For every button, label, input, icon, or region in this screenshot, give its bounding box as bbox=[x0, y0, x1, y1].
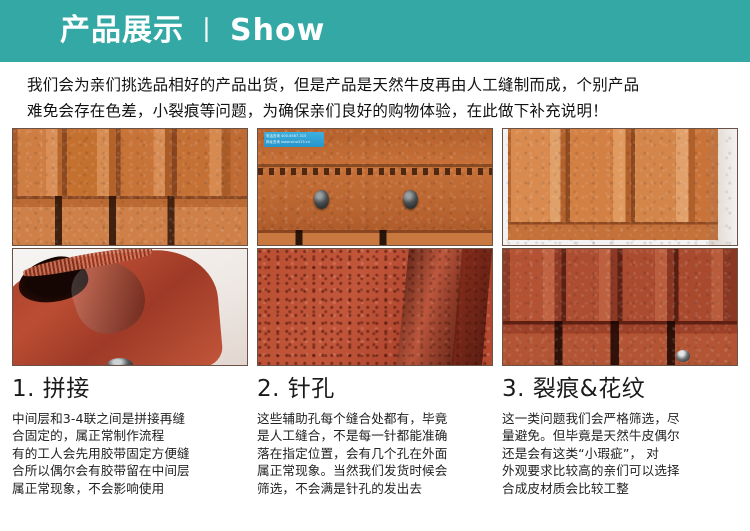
photo-splice-tan-loops[interactable] bbox=[12, 128, 248, 246]
title-separator: 丨 bbox=[193, 18, 221, 45]
body-line: 合成皮材质会比较工整 bbox=[502, 480, 738, 497]
stitch-line bbox=[258, 168, 492, 175]
product-photo-grid: 电话查询 400-6467-315 网址查询 www.sino315.cn bbox=[12, 128, 738, 368]
photo-stitching-rivets[interactable]: 电话查询 400-6467-315 网址查询 www.sino315.cn bbox=[257, 128, 493, 246]
body-line: 是人工缝合，不是每一针都能准确 bbox=[257, 427, 493, 444]
column-body-splice: 中间层和3-4联之间是拼接再缝 合固定的，属正常制作流程 有的工人会先用胶带固定… bbox=[12, 410, 248, 497]
body-line: 量避免。但毕竟是天然牛皮偶尔 bbox=[502, 427, 738, 444]
body-line: 还是会有这类“小瑕疵”， 对 bbox=[502, 445, 738, 462]
body-line: 属正常现象，不会影响使用 bbox=[12, 480, 248, 497]
intro-paragraph: 我们会为亲们挑选品相好的产品出货，但是产品是天然牛皮再由人工缝制而成，个别产品 … bbox=[27, 72, 727, 124]
body-line: 合所以偶尔会有胶带留在中间层 bbox=[12, 462, 248, 479]
column-heading-pinhole: 2. 针孔 bbox=[257, 374, 493, 404]
photo-tan-panels-front[interactable] bbox=[502, 128, 738, 246]
page-title: 产品展示 丨 Show bbox=[60, 16, 325, 46]
body-line: 这一类问题我们会严格筛选，尽 bbox=[502, 410, 738, 427]
explanation-column-pinhole: 2. 针孔 这些辅助孔每个缝合处都有，毕竟 是人工缝合，不是每一针都能准确 落在… bbox=[257, 374, 493, 497]
leather-lower-band bbox=[258, 230, 492, 245]
page-banner: 产品展示 丨 Show bbox=[0, 0, 750, 62]
intro-line-1: 我们会为亲们挑选品相好的产品出货，但是产品是天然牛皮再由人工缝制而成，个别产品 bbox=[27, 72, 727, 98]
photo-dark-red-ribs[interactable] bbox=[502, 248, 738, 366]
column-body-pinhole: 这些辅助孔每个缝合处都有，毕竟 是人工缝合，不是每一针都能准确 落在指定位置，会… bbox=[257, 410, 493, 497]
body-line: 外观要求比较高的亲们可以选择 bbox=[502, 462, 738, 479]
body-line: 筛选，不会满是针孔的发出去 bbox=[257, 480, 493, 497]
watermark-line-2: 网址查询 www.sino315.cn bbox=[266, 140, 322, 145]
panel-drop-shadow bbox=[709, 129, 737, 245]
photo-pinhole-texture[interactable] bbox=[257, 248, 493, 366]
explanation-column-splice: 1. 拼接 中间层和3-4联之间是拼接再缝 合固定的，属正常制作流程 有的工人会… bbox=[12, 374, 248, 497]
leather-grain-overlay bbox=[13, 129, 247, 245]
column-heading-splice: 1. 拼接 bbox=[12, 374, 248, 404]
intro-line-2: 难免会存在色差，小裂痕等问题，为确保亲们良好的购物体验，在此做下补充说明！ bbox=[27, 98, 727, 124]
column-heading-crack-pattern: 3. 裂痕&花纹 bbox=[502, 374, 738, 404]
body-line: 合固定的，属正常制作流程 bbox=[12, 427, 248, 444]
explanation-columns: 1. 拼接 中间层和3-4联之间是拼接再缝 合固定的，属正常制作流程 有的工人会… bbox=[12, 374, 738, 497]
body-line: 这些辅助孔每个缝合处都有，毕竟 bbox=[257, 410, 493, 427]
watermark-badge: 电话查询 400-6467-315 网址查询 www.sino315.cn bbox=[264, 132, 324, 147]
body-line: 落在指定位置，会有几个孔在外面 bbox=[257, 445, 493, 462]
page-title-cn: 产品展示 bbox=[60, 16, 184, 46]
leather-grain-overlay bbox=[503, 249, 737, 365]
page-title-en: Show bbox=[230, 16, 325, 46]
body-line: 有的工人会先用胶带固定方便缝 bbox=[12, 445, 248, 462]
leather-grain-overlay bbox=[503, 129, 737, 245]
body-line: 属正常现象。当然我们发货时候会 bbox=[257, 462, 493, 479]
column-body-crack-pattern: 这一类问题我们会严格筛选，尽 量避免。但毕竟是天然牛皮偶尔 还是会有这类“小瑕疵… bbox=[502, 410, 738, 497]
photo-crack-detail[interactable] bbox=[12, 248, 248, 366]
seam-shadow bbox=[258, 164, 492, 167]
body-line: 中间层和3-4联之间是拼接再缝 bbox=[12, 410, 248, 427]
metal-stud bbox=[676, 350, 690, 362]
metal-stud bbox=[107, 358, 133, 366]
explanation-column-crack-pattern: 3. 裂痕&花纹 这一类问题我们会严格筛选，尽 量避免。但毕竟是天然牛皮偶尔 还… bbox=[502, 374, 738, 497]
